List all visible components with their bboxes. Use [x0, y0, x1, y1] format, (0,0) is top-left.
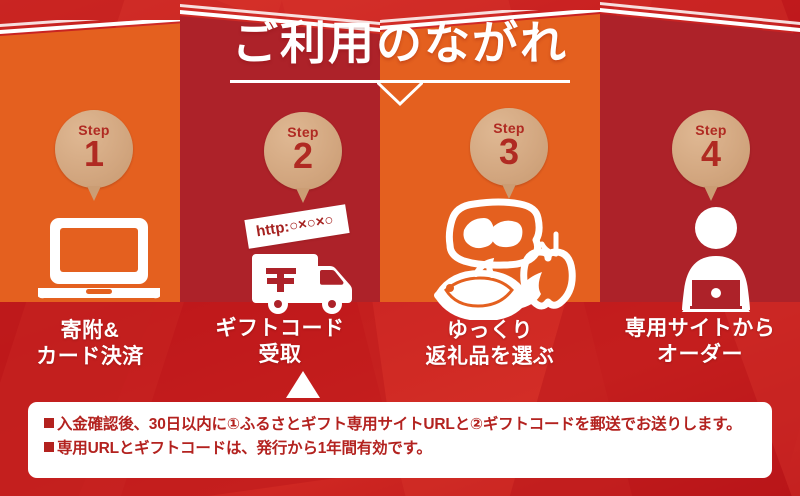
footer-note-line-1: 入金確認後、30日以内に①ふるさとギフト専用サイトURLと②ギフトコードを郵送で… [28, 413, 772, 437]
bullet-square-icon [44, 442, 54, 452]
footer-note-line-2-text: 専用URLとギフトコードは、発行から1年間有効です。 [57, 440, 432, 457]
step-badge-1[interactable]: Step 1 [55, 110, 133, 188]
step-caption-1-line2: カード決済 [0, 344, 180, 370]
step-caption-2-line1: ギフトコード [180, 316, 380, 342]
step-badge-2-number: 2 [264, 138, 342, 174]
footer-pointer-arrow-icon [286, 371, 320, 398]
laptop-icon [38, 218, 160, 305]
step-caption-3-line1: ゆっくり [380, 318, 600, 344]
step-badge-1-number: 1 [55, 136, 133, 172]
title-divider-notch-icon [377, 80, 423, 106]
step-caption-4-line2: オーダー [600, 342, 800, 368]
step-badge-3-number: 3 [470, 134, 548, 170]
infographic-root: ご利用のながれ [0, 0, 800, 496]
step-badge-2[interactable]: Step 2 [264, 112, 342, 190]
step-caption-2-line2: 受取 [180, 342, 380, 368]
footer-note-line-2: 専用URLとギフトコードは、発行から1年間有効です。 [28, 437, 772, 461]
bullet-square-icon [44, 418, 54, 428]
person-laptop-icon [668, 206, 764, 321]
step-caption-1-line1: 寄附& [0, 318, 180, 344]
delivery-truck-icon [250, 248, 360, 319]
step-caption-1: 寄附& カード決済 [0, 318, 180, 369]
step-badge-3[interactable]: Step 3 [470, 108, 548, 186]
step-caption-4: 専用サイトから オーダー [600, 316, 800, 367]
page-title: ご利用のながれ [0, 18, 800, 69]
step-caption-3: ゆっくり 返礼品を選ぶ [380, 318, 600, 369]
footer-note-line-1-text: 入金確認後、30日以内に①ふるさとギフト専用サイトURLと②ギフトコードを郵送で… [57, 416, 741, 433]
step-caption-2: ギフトコード 受取 [180, 316, 380, 367]
step-caption-3-line2: 返礼品を選ぶ [380, 344, 600, 370]
page-title-wrapper: ご利用のながれ [0, 18, 800, 69]
meat-fish-apple-icon [430, 196, 592, 325]
footer-note-box: 入金確認後、30日以内に①ふるさとギフト専用サイトURLと②ギフトコードを郵送で… [28, 402, 772, 478]
step-badge-4[interactable]: Step 4 [672, 110, 750, 188]
step-badge-4-number: 4 [672, 136, 750, 172]
url-ribbon-text: http:○×○×○ [255, 211, 335, 240]
step-caption-4-line1: 専用サイトから [600, 316, 800, 342]
